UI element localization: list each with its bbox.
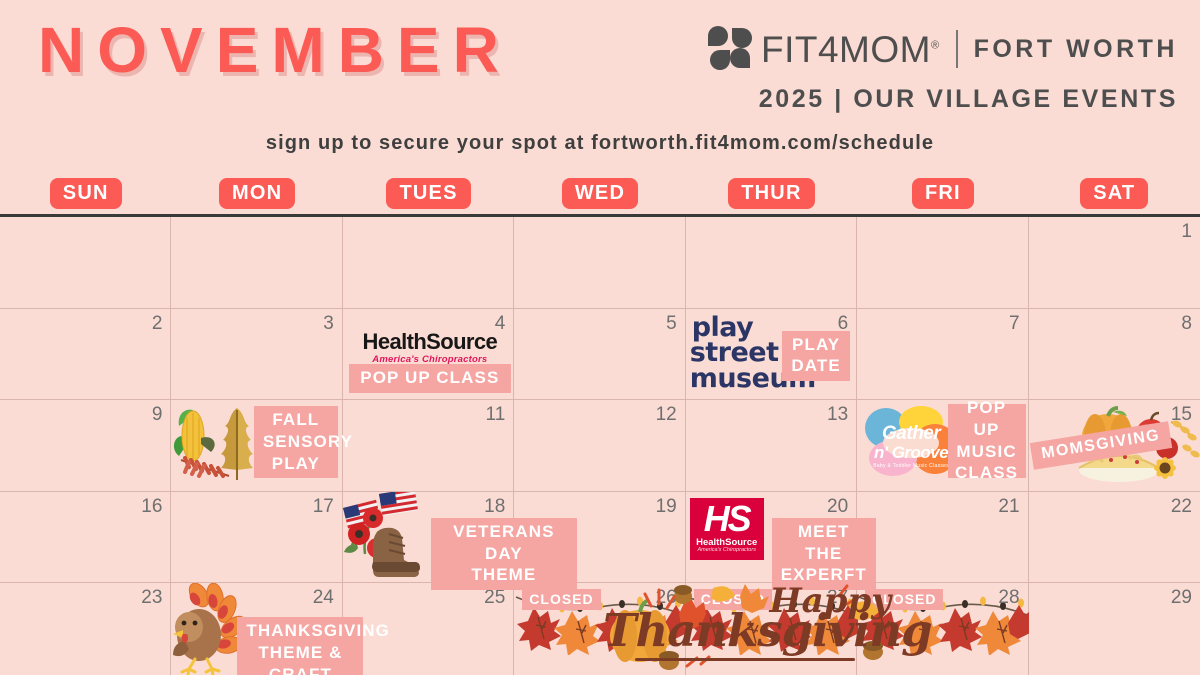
- day-cell-empty: [686, 217, 857, 309]
- day-cell-5[interactable]: 5: [514, 309, 685, 401]
- weekday-pill-fri: FRI: [912, 178, 974, 209]
- weekday-pill-mon: MON: [219, 178, 295, 209]
- combat-boot-icon: [372, 528, 420, 577]
- day-cell-29[interactable]: 29: [1029, 583, 1200, 675]
- day-number: 19: [656, 496, 677, 518]
- day-number: 7: [1009, 313, 1020, 335]
- day-number: 4: [495, 313, 506, 335]
- red-fern-icon: [181, 458, 229, 476]
- happy-thanksgiving-overlay: Happy Thanksgiving: [595, 582, 895, 672]
- day-cell-15[interactable]: 15: [1029, 400, 1200, 492]
- day-cell-2[interactable]: 2: [0, 309, 171, 401]
- day-number: 16: [141, 496, 162, 518]
- calendar-page: NOVEMBER FIT4MOM® FORT WORTH 2025 | OUR …: [0, 0, 1200, 675]
- signup-instruction: sign up to secure your spot at fortworth…: [0, 132, 1200, 155]
- weekday-header-row: SUN MON TUES WED THUR FRI SAT: [0, 172, 1200, 214]
- hs-box-name: HealthSource: [696, 538, 757, 548]
- brand-header: FIT4MOM® FORT WORTH 2025 | OUR VILLAGE E…: [708, 26, 1178, 114]
- day-number: 21: [998, 496, 1019, 518]
- day-number: 20: [827, 496, 848, 518]
- day-number: 25: [484, 587, 505, 609]
- day-cell-empty: [0, 217, 171, 309]
- healthsource-hs-box-logo: HS HealthSource America's Chiropractors: [690, 498, 764, 560]
- header-subtitle: 2025 | OUR VILLAGE EVENTS: [708, 85, 1178, 114]
- day-number: 2: [152, 313, 163, 335]
- thanksgiving-line-2: Thanksgiving: [603, 608, 932, 653]
- brand-location: FORT WORTH: [974, 37, 1178, 62]
- day-cell-20[interactable]: 20 HS HealthSource America's Chiropracto…: [686, 492, 857, 584]
- healthsource-logo-name: HealthSource: [351, 331, 509, 353]
- event-chip[interactable]: POP UP MUSIC CLASS: [948, 404, 1026, 478]
- event-chip[interactable]: MEET THE EXPERFT: [772, 518, 876, 590]
- day-cell-12[interactable]: 12: [514, 400, 685, 492]
- weekday-cell-tues: TUES: [343, 172, 514, 214]
- event-chip[interactable]: THANKSGIVING THEME & CRAFT: [237, 617, 363, 675]
- day-number: 12: [656, 404, 677, 426]
- day-number: 8: [1181, 313, 1192, 335]
- day-cell-6[interactable]: 6 play street museum PLAY DATE: [686, 309, 857, 401]
- hs-box-tagline: America's Chiropractors: [697, 548, 756, 554]
- weekday-cell-thur: THUR: [686, 172, 857, 214]
- day-cell-4[interactable]: 4 HealthSource America's Chiropractors P…: [343, 309, 514, 401]
- us-flag-small-icon: [343, 500, 381, 529]
- day-cell-3[interactable]: 3: [171, 309, 342, 401]
- corn-icon: [174, 410, 215, 461]
- day-number: 24: [313, 587, 334, 609]
- weekday-pill-wed: WED: [562, 178, 638, 209]
- oak-leaf-icon: [221, 408, 253, 480]
- event-chip[interactable]: FALL SENSORY PLAY: [254, 406, 338, 478]
- day-cell-empty: [171, 217, 342, 309]
- day-cell-7[interactable]: 7: [857, 309, 1028, 401]
- day-cell-10[interactable]: 10: [171, 400, 342, 492]
- day-cell-17[interactable]: 17: [171, 492, 342, 584]
- day-cell-16[interactable]: 16: [0, 492, 171, 584]
- fit4mom-leaf-logo-icon: [708, 26, 754, 72]
- closed-badge[interactable]: CLOSED: [522, 589, 600, 610]
- page-title-month: NOVEMBER: [38, 18, 512, 82]
- us-flag-large-icon: [379, 492, 418, 516]
- day-number: 9: [152, 404, 163, 426]
- day-cell-11[interactable]: 11: [343, 400, 514, 492]
- day-cell-14[interactable]: 14 Gather n' Groove Baby & Toddler Music…: [857, 400, 1028, 492]
- healthsource-wordmark-logo: HealthSource America's Chiropractors: [351, 331, 509, 365]
- momsgiving-banner[interactable]: MOMSGIVING: [1029, 421, 1171, 470]
- weekday-pill-thur: THUR: [728, 178, 814, 209]
- weekday-cell-sun: SUN: [0, 172, 171, 214]
- day-cell-empty: [857, 217, 1028, 309]
- day-cell-1[interactable]: 1: [1029, 217, 1200, 309]
- day-cell-empty: [343, 217, 514, 309]
- thanksgiving-underline: [635, 658, 855, 661]
- day-cell-empty: [514, 217, 685, 309]
- weekday-cell-mon: MON: [171, 172, 342, 214]
- day-cell-23[interactable]: 23: [0, 583, 171, 675]
- day-cell-13[interactable]: 13: [686, 400, 857, 492]
- day-cell-22[interactable]: 22: [1029, 492, 1200, 584]
- weekday-cell-wed: WED: [514, 172, 685, 214]
- day-number: 3: [323, 313, 334, 335]
- weekday-pill-sun: SUN: [50, 178, 122, 209]
- day-number: 1: [1181, 221, 1192, 243]
- hs-monogram: HS: [704, 501, 750, 537]
- day-cell-24[interactable]: 24: [171, 583, 342, 675]
- day-cell-9[interactable]: 9: [0, 400, 171, 492]
- poppy-flowers-icon: [344, 508, 396, 558]
- weekday-cell-fri: FRI: [857, 172, 1028, 214]
- brand-name: FIT4MOM®: [761, 31, 940, 68]
- weekday-pill-sat: SAT: [1080, 178, 1148, 209]
- day-number: 23: [141, 587, 162, 609]
- event-chip[interactable]: POP UP CLASS: [349, 364, 511, 393]
- day-cell-8[interactable]: 8: [1029, 309, 1200, 401]
- weekday-cell-sat: SAT: [1029, 172, 1200, 214]
- brand-trademark: ®: [931, 39, 940, 51]
- day-number: 18: [484, 496, 505, 518]
- brand-row: FIT4MOM® FORT WORTH: [708, 26, 1178, 72]
- day-number: 28: [998, 587, 1019, 609]
- brand-divider: [956, 30, 958, 68]
- day-cell-18[interactable]: 18: [343, 492, 514, 584]
- sunflower-icon: [1152, 455, 1178, 481]
- healthsource-logo-tagline: America's Chiropractors: [351, 354, 509, 365]
- day-number: 11: [486, 404, 506, 426]
- weekday-pill-tues: TUES: [386, 178, 470, 209]
- event-chip[interactable]: PLAY DATE: [782, 331, 850, 382]
- day-number: 17: [313, 496, 334, 518]
- day-number: 5: [666, 313, 677, 335]
- day-number: 29: [1171, 587, 1192, 609]
- turkey-body: [173, 609, 221, 675]
- day-number: 15: [1171, 404, 1192, 426]
- day-number: 13: [827, 404, 848, 426]
- day-number: 22: [1171, 496, 1192, 518]
- event-chip[interactable]: VETERANS DAY THEME: [431, 518, 577, 590]
- day-cell-21[interactable]: 21: [857, 492, 1028, 584]
- brand-name-text: FIT4MOM: [761, 29, 931, 70]
